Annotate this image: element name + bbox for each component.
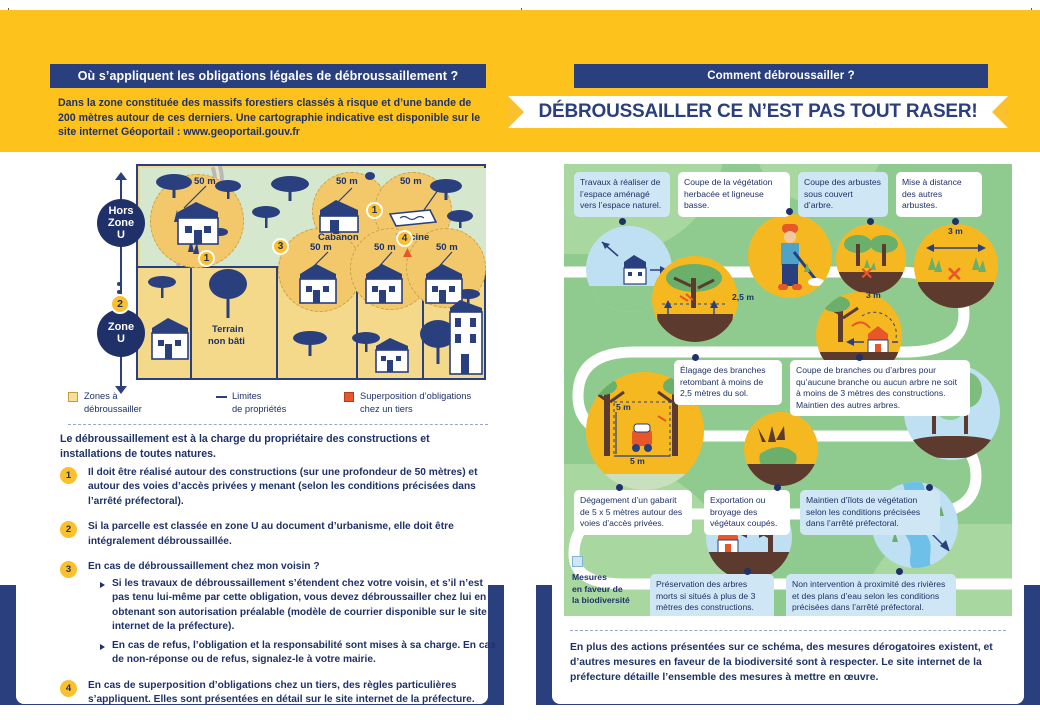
zone-label-line: U [117, 333, 125, 345]
biodiversity-swatch [572, 556, 583, 567]
list-item: 3 En cas de débroussaillement chez mon v… [60, 560, 496, 667]
legend-label-overlap: Superposition d’obligations chez un tier… [360, 390, 510, 415]
callout-coupe-vegetation: Coupe de la végétation herbacée et ligne… [678, 172, 790, 217]
debroussaillement-scheme: 2,5 m [564, 164, 1012, 616]
measure-label-3m-b: 3 m [866, 290, 881, 300]
right-footer-text: En plus des actions présentées sur ce sc… [570, 640, 1012, 685]
map-badge-3: 3 [272, 238, 289, 255]
list-item-text: Si la parcelle est classée en zone U au … [88, 520, 496, 549]
callout-dot [692, 354, 699, 361]
zone-label-line: Zone [108, 321, 134, 333]
scheme-disc-arbustes-sous-couvert: ✕ [836, 224, 906, 294]
legend-swatch-zones [68, 392, 78, 402]
bio-line: la biodiversité [572, 595, 630, 605]
map-distance-label: 50 m [194, 176, 216, 187]
legend-line: chez un tiers [360, 404, 413, 414]
legend-line: de propriétés [232, 404, 286, 414]
right-column: 2,5 m [536, 152, 1040, 708]
callout-gabarit: Dégagement d’un gabarit de 5 x 5 mètres … [574, 490, 692, 535]
map-feature-cabanon: Cabanon [318, 232, 359, 243]
callout-dot [856, 354, 863, 361]
callout-dot [619, 218, 626, 225]
zone-axis-arrow-up [115, 172, 127, 180]
sublist-item: Si les travaux de débroussaillement s’ét… [100, 577, 496, 635]
list-item-badge: 3 [60, 561, 77, 578]
map-buildings [138, 166, 484, 382]
legend-line: Zones à [84, 391, 118, 401]
map-feature-terrain-line2: non bâti [208, 336, 245, 347]
list-item-badge: 4 [60, 680, 77, 697]
zone-map: 50 m 50 m 50 m 50 m 50 m 50 m Cabanon Pi… [68, 164, 486, 380]
list-item: 1 Il doit être réalisé autour des constr… [60, 466, 496, 509]
callout-coupe-branches: Coupe de branches ou d’arbres pour qu’au… [790, 360, 970, 416]
callout-dot [786, 208, 793, 215]
measure-label-5m-v: 5 m [616, 402, 631, 412]
map-distance-label: 50 m [336, 176, 358, 187]
bio-line: Mesures [572, 572, 607, 582]
callout-mise-a-distance: Mise à distance des autres arbustes. [896, 172, 982, 217]
map-feature-terrain-line1: Terrain [212, 324, 244, 335]
callout-dot [952, 218, 959, 225]
axis-dot-1 [117, 282, 121, 286]
list-item-badge: 1 [60, 467, 77, 484]
legend-swatch-overlap [344, 392, 354, 402]
soil-mound [904, 436, 1000, 458]
zone-label-line: Zone [108, 217, 134, 229]
bio-line: en faveur de [572, 584, 623, 594]
map-distance-label: 50 m [436, 242, 458, 253]
callout-dot [867, 218, 874, 225]
list-item-text: En cas de débroussaillement chez mon voi… [88, 560, 496, 574]
map-badge-4: 4 [396, 230, 413, 247]
list-item-sublist: Si les travaux de débroussaillement s’ét… [88, 577, 496, 668]
legend-swatch-limits [216, 396, 227, 398]
scheme-disc-exportation [744, 412, 818, 486]
legend-label-limits: Limites de propriétés [232, 390, 352, 415]
sublist-item: En cas de refus, l’obligation et la resp… [100, 639, 496, 668]
callout-travaux: Travaux à réaliser de l’espace aménagé v… [574, 172, 670, 217]
list-item: 2 Si la parcelle est classée en zone U a… [60, 520, 496, 549]
legend-label-zones: Zones à débroussailler [84, 390, 204, 415]
callout-dot [896, 568, 903, 575]
legend-line: débroussailler [84, 404, 142, 414]
map-frame: 50 m 50 m 50 m 50 m 50 m 50 m Cabanon Pi… [136, 164, 486, 380]
map-distance-label: 50 m [310, 242, 332, 253]
scheme-disc-coupe-vegetation [748, 214, 832, 298]
left-intro-text: Dans la zone constituée des massifs fore… [58, 96, 488, 140]
callout-exportation: Exportation ou broyage des végétaux coup… [704, 490, 790, 535]
right-section-title: Comment débroussailler ? [574, 64, 988, 88]
banner-text: DÉBROUSSAILLER CE N’EST PAS TOUT RASER! [508, 96, 1008, 128]
callout-dot [744, 568, 751, 575]
zone-bubble-hors-zone-u: Hors Zone U [97, 199, 145, 247]
callout-rivieres: Non intervention à proximité des rivière… [786, 574, 956, 616]
measure-label-3m-a: 3 m [948, 226, 963, 236]
map-distance-label: 50 m [374, 242, 396, 253]
x-mark-icon: ✕ [946, 262, 963, 287]
list-item-text: Il doit être réalisé autour des construc… [88, 466, 496, 509]
map-badge-1b: 1 [366, 202, 383, 219]
zone-label-line: Hors [108, 205, 133, 217]
callout-dot [926, 484, 933, 491]
legend-line: Superposition d’obligations [360, 391, 471, 401]
legend-line: Limites [232, 391, 261, 401]
legend-divider [68, 424, 488, 425]
left-section-title: Où s’appliquent les obligations légales … [50, 64, 486, 88]
callout-arbres-morts: Préservation des arbres morts si situés … [650, 574, 774, 616]
list-item-text: En cas de superposition d’obligations ch… [88, 679, 496, 708]
list-item: 4 En cas de superposition d’obligations … [60, 679, 496, 708]
callout-dot [774, 484, 781, 491]
map-legend: Zones à débroussailler Limites de propri… [68, 390, 488, 422]
callout-ilots: Maintien d’îlots de végétation selon les… [800, 490, 940, 535]
left-column: 50 m 50 m 50 m 50 m 50 m 50 m Cabanon Pi… [0, 152, 504, 708]
obligations-list: 1 Il doit être réalisé autour des constr… [60, 466, 496, 719]
scheme-disc-elagage [652, 256, 738, 342]
responsibility-statement: Le débroussaillement est à la charge du … [60, 432, 490, 462]
measure-label-5m-h: 5 m [630, 456, 645, 466]
x-mark-icon: ✕ [860, 264, 873, 284]
scheme-disc-mise-a-distance: ✕ [914, 224, 998, 308]
poster-page: Où s’appliquent les obligations légales … [0, 0, 1040, 720]
footer-divider [570, 630, 1006, 631]
measure-label-2-5m: 2,5 m [732, 292, 754, 302]
callout-dot [616, 484, 623, 491]
list-item-badge: 2 [60, 521, 77, 538]
map-distance-label: 50 m [400, 176, 422, 187]
callout-arbustes: Coupe des arbustes sous couvert d’arbre. [798, 172, 888, 217]
soil-mound [586, 474, 704, 490]
zone-label-line: U [117, 229, 125, 241]
biodiversity-legend-label: Mesures en faveur de la biodiversité [572, 572, 646, 607]
zone-badge-2: 2 [110, 294, 130, 314]
zone-bubble-zone-u: Zone U [97, 309, 145, 357]
callout-elagage: Élagage des branches retombant à moins d… [674, 360, 782, 405]
map-badge-1a: 1 [198, 250, 215, 267]
